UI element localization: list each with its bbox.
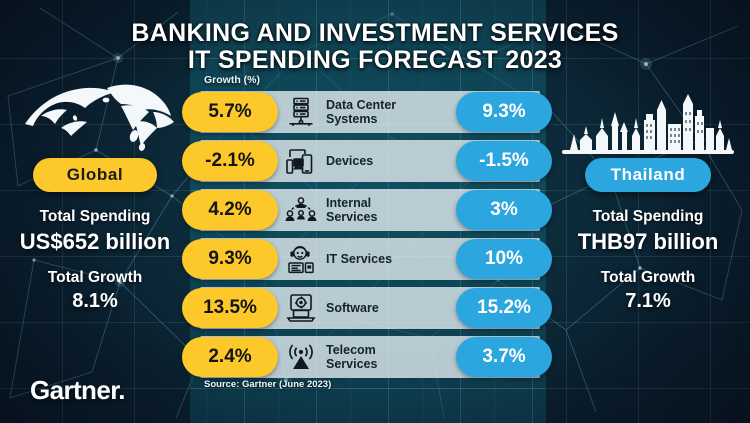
category-line-1: Software [326,301,379,315]
category-line-1: Data Center [326,98,396,112]
broadcast-antenna-icon [278,343,324,371]
gartner-logo-text: Gartner [30,375,118,405]
global-value-pill: 9.3% [182,239,278,279]
infographic-canvas: BANKING AND INVESTMENT SERVICES IT SPEND… [0,0,750,423]
global-spending-value: US$652 billion [0,229,190,255]
category-label: Internal Services [324,196,456,224]
table-row: 2.4% Telecom Services 3.7% [190,333,546,381]
gartner-logo: Gartner. [30,375,125,406]
thailand-value-pill: 10% [456,239,552,279]
gartner-logo-dot: . [118,375,125,405]
source-note: Source: Gartner (June 2023) [204,379,331,390]
global-growth-label: Total Growth [0,269,190,287]
thailand-value-pill: 3% [456,190,552,230]
title-line-2: IT SPENDING FORECAST 2023 [0,47,750,74]
server-rack-icon [278,97,324,127]
thailand-growth-label: Total Growth [546,269,750,287]
category-line-2: Services [326,357,456,371]
global-value-pill: 2.4% [182,337,278,377]
category-line-2: Systems [326,112,456,126]
category-label: Software [324,301,456,315]
global-growth-value: 8.1% [0,290,190,313]
devices-icon [278,147,324,175]
comparison-rows: 5.7% [190,88,546,382]
global-value-pill: 13.5% [182,288,278,328]
thailand-value-pill: 15.2% [456,288,552,328]
global-spending-label: Total Spending [0,208,190,226]
table-row: 13.5% Software 15.2% [190,284,546,332]
table-row: -2.1% Devices -1.5% [190,137,546,185]
title-line-1: BANKING AND INVESTMENT SERVICES [131,19,618,47]
thailand-spending-label: Total Spending [546,208,750,226]
thailand-badge: Thailand [585,158,712,192]
category-label: Devices [324,154,456,168]
global-badge: Global [33,158,157,192]
page-title: BANKING AND INVESTMENT SERVICES IT SPEND… [0,20,750,74]
category-line-1: Internal [326,196,371,210]
category-line-1: Devices [326,154,373,168]
global-value-pill: 5.7% [182,92,278,132]
laptop-software-icon [278,293,324,323]
thailand-value-pill: -1.5% [456,141,552,181]
support-agent-icon [278,244,324,274]
thailand-panel: Thailand Total Spending THB97 billion To… [546,60,750,313]
category-line-1: IT Services [326,252,392,266]
bangkok-skyline-icon [546,60,750,158]
thailand-value-pill: 9.3% [456,92,552,132]
thailand-value-pill: 3.7% [456,337,552,377]
thailand-spending-value: THB97 billion [546,229,750,255]
category-line-2: Services [326,210,456,224]
global-panel: Global Total Spending US$652 billion Tot… [0,60,190,313]
category-label: IT Services [324,252,456,266]
category-label: Telecom Services [324,343,456,371]
category-label: Data Center Systems [324,98,456,126]
people-network-icon [278,196,324,224]
thailand-growth-value: 7.1% [546,290,750,313]
growth-axis-label: Growth (%) [204,74,260,86]
table-row: 5.7% [190,88,546,136]
global-value-pill: -2.1% [182,141,278,181]
world-map-icon [0,60,190,158]
table-row: 4.2% Internal Services 3% [190,186,546,234]
category-line-1: Telecom [326,343,376,357]
table-row: 9.3% IT Se [190,235,546,283]
global-value-pill: 4.2% [182,190,278,230]
